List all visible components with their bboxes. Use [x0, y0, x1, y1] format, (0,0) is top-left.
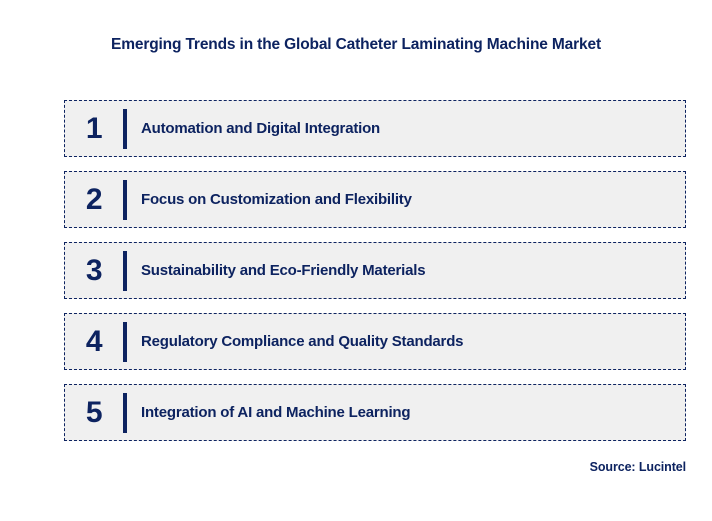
trend-label: Integration of AI and Machine Learning [127, 404, 410, 421]
trend-number: 3 [65, 256, 123, 286]
trend-list: 1 Automation and Digital Integration 2 F… [64, 100, 686, 441]
trend-number: 4 [65, 327, 123, 357]
list-item[interactable]: 2 Focus on Customization and Flexibility [64, 171, 686, 228]
trend-label: Regulatory Compliance and Quality Standa… [127, 333, 463, 350]
list-item[interactable]: 1 Automation and Digital Integration [64, 100, 686, 157]
trend-label: Sustainability and Eco-Friendly Material… [127, 262, 425, 279]
trend-number: 2 [65, 185, 123, 215]
list-item[interactable]: 4 Regulatory Compliance and Quality Stan… [64, 313, 686, 370]
trend-label: Focus on Customization and Flexibility [127, 191, 412, 208]
trend-number: 5 [65, 398, 123, 428]
trend-number: 1 [65, 114, 123, 144]
source-attribution: Source: Lucintel [590, 460, 686, 474]
trend-label: Automation and Digital Integration [127, 120, 380, 137]
page-title: Emerging Trends in the Global Catheter L… [0, 36, 712, 54]
list-item[interactable]: 3 Sustainability and Eco-Friendly Materi… [64, 242, 686, 299]
list-item[interactable]: 5 Integration of AI and Machine Learning [64, 384, 686, 441]
infographic-canvas: Emerging Trends in the Global Catheter L… [0, 0, 712, 521]
